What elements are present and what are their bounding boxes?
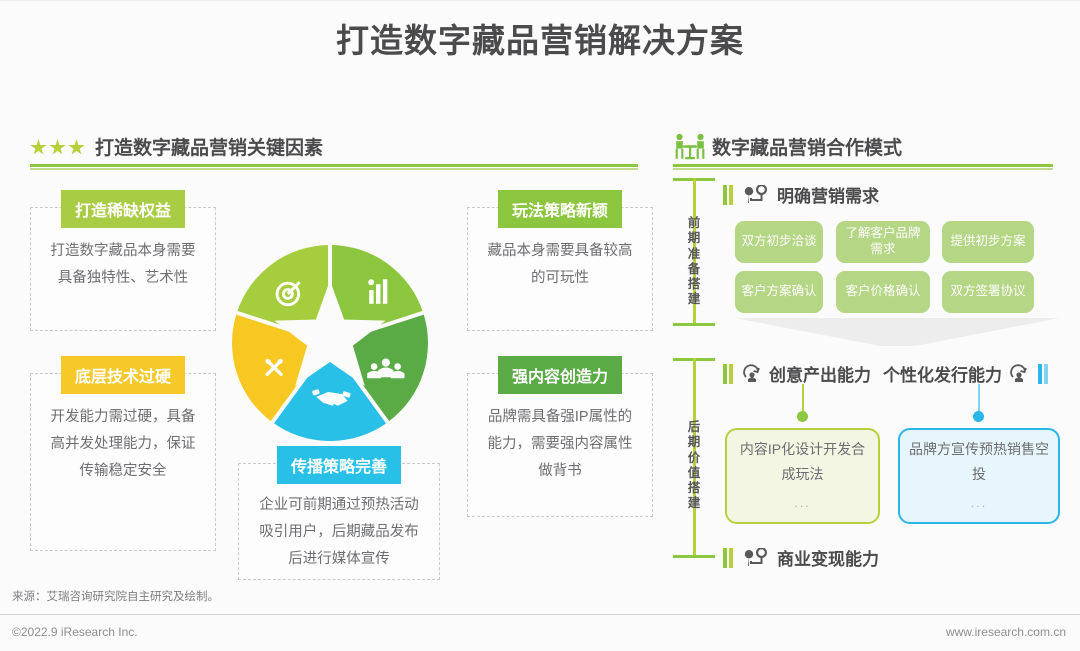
star-rating bbox=[30, 139, 85, 156]
stage2-title-row: 创意产出能力 个性化发行能力 bbox=[723, 361, 1050, 386]
outcome-box-text: 品牌方宣传预热销售空投 bbox=[908, 437, 1050, 486]
stage3-group-title: 商业变现能力 bbox=[777, 545, 879, 570]
outcome-box-ellipsis: ... bbox=[794, 492, 811, 515]
outcome-box-ellipsis: ... bbox=[971, 492, 988, 515]
tick-mark bbox=[729, 548, 733, 568]
factor-card-title: 玩法策略新颖 bbox=[498, 190, 622, 228]
pill-item[interactable]: 双方初步洽谈 bbox=[735, 221, 823, 263]
stage1-title-row: 明确营销需求 bbox=[723, 182, 879, 207]
top-divider bbox=[0, 0, 1080, 1]
stage2-group-title-right: 个性化发行能力 bbox=[883, 361, 1002, 386]
factors-wheel-diagram bbox=[232, 245, 428, 441]
pill-item[interactable]: 客户价格确认 bbox=[836, 271, 930, 313]
right-header-rule bbox=[673, 164, 1053, 167]
factor-card-gameplay[interactable]: 玩法策略新颖 藏品本身需要具备较高的可玩性 bbox=[467, 207, 653, 331]
right-header-rule-secondary bbox=[673, 168, 1053, 170]
pill-item[interactable]: 客户方案确认 bbox=[735, 271, 823, 313]
pill-item[interactable]: 了解客户品牌需求 bbox=[836, 221, 930, 263]
star-icon bbox=[49, 139, 66, 156]
outcome-box-text: 内容IP化设计开发合成玩法 bbox=[735, 437, 870, 486]
cycle-icon bbox=[742, 364, 764, 384]
tick-mark bbox=[729, 185, 733, 205]
stage1-group-title: 明确营销需求 bbox=[777, 182, 879, 207]
star-icon bbox=[30, 139, 47, 156]
left-header-rule bbox=[30, 164, 638, 167]
factor-card-title: 传播策略完善 bbox=[277, 446, 401, 484]
connector-dot bbox=[973, 411, 984, 422]
tick-mark bbox=[729, 364, 733, 384]
stage2-vertical-label: 后期价值搭建 bbox=[684, 420, 704, 512]
slide-canvas: 打造数字藏品营销解决方案 打造数字藏品营销关键因素 数字藏品营销合作模式 bbox=[0, 0, 1080, 651]
right-section-header: 数字藏品营销合作模式 bbox=[712, 139, 902, 158]
right-section-title: 数字藏品营销合作模式 bbox=[712, 139, 902, 158]
tick-mark bbox=[723, 548, 727, 568]
tick-mark bbox=[1038, 364, 1042, 384]
pill-item[interactable]: 双方签署协议 bbox=[942, 271, 1034, 313]
meeting-icon bbox=[673, 132, 707, 162]
copyright-text: ©2022.9 iResearch Inc. bbox=[12, 625, 138, 639]
outcome-box-distribution[interactable]: 品牌方宣传预热销售空投 ... bbox=[898, 428, 1060, 524]
factor-card-title: 强内容创造力 bbox=[498, 356, 622, 394]
funnel-connector bbox=[735, 318, 1060, 346]
source-note: 来源：艾瑞咨询研究院自主研究及绘制。 bbox=[12, 588, 219, 604]
cycle-icon bbox=[1009, 364, 1031, 384]
factor-card-scarcity[interactable]: 打造稀缺权益 打造数字藏品本身需要具备独特性、艺术性 bbox=[30, 207, 216, 331]
stage2-connector-left bbox=[802, 384, 804, 414]
factor-card-technology[interactable]: 底层技术过硬 开发能力需过硬，具备高并发处理能力，保证传输稳定安全 bbox=[30, 373, 216, 551]
factor-card-title: 打造稀缺权益 bbox=[61, 190, 185, 228]
connector-dot bbox=[797, 411, 808, 422]
pin-icon bbox=[743, 548, 769, 568]
tick-mark bbox=[1044, 364, 1048, 384]
stage2-connector-right bbox=[978, 384, 980, 414]
factor-card-communication[interactable]: 传播策略完善 企业可前期通过预热活动吸引用户，后期藏品发布后进行媒体宣传 bbox=[238, 463, 440, 580]
stage3-title-row: 商业变现能力 bbox=[723, 545, 879, 570]
pin-icon bbox=[743, 185, 769, 205]
stage2-group-title-left: 创意产出能力 bbox=[769, 361, 871, 386]
website-url[interactable]: www.iresearch.com.cn bbox=[946, 625, 1066, 639]
tick-mark bbox=[723, 185, 727, 205]
pill-item[interactable]: 提供初步方案 bbox=[942, 221, 1034, 263]
factor-card-content[interactable]: 强内容创造力 品牌需具备强IP属性的能力，需要强内容属性做背书 bbox=[467, 373, 653, 517]
footer-divider bbox=[0, 614, 1080, 615]
factor-card-title: 底层技术过硬 bbox=[61, 356, 185, 394]
left-section-header: 打造数字藏品营销关键因素 bbox=[30, 139, 323, 158]
star-icon bbox=[68, 139, 85, 156]
left-section-title: 打造数字藏品营销关键因素 bbox=[95, 139, 323, 158]
page-title: 打造数字藏品营销解决方案 bbox=[0, 14, 1080, 62]
tick-mark bbox=[723, 364, 727, 384]
outcome-box-creative[interactable]: 内容IP化设计开发合成玩法 ... bbox=[725, 428, 880, 524]
stage1-vertical-label: 前期准备搭建 bbox=[684, 216, 704, 308]
left-header-rule-secondary bbox=[30, 168, 638, 170]
